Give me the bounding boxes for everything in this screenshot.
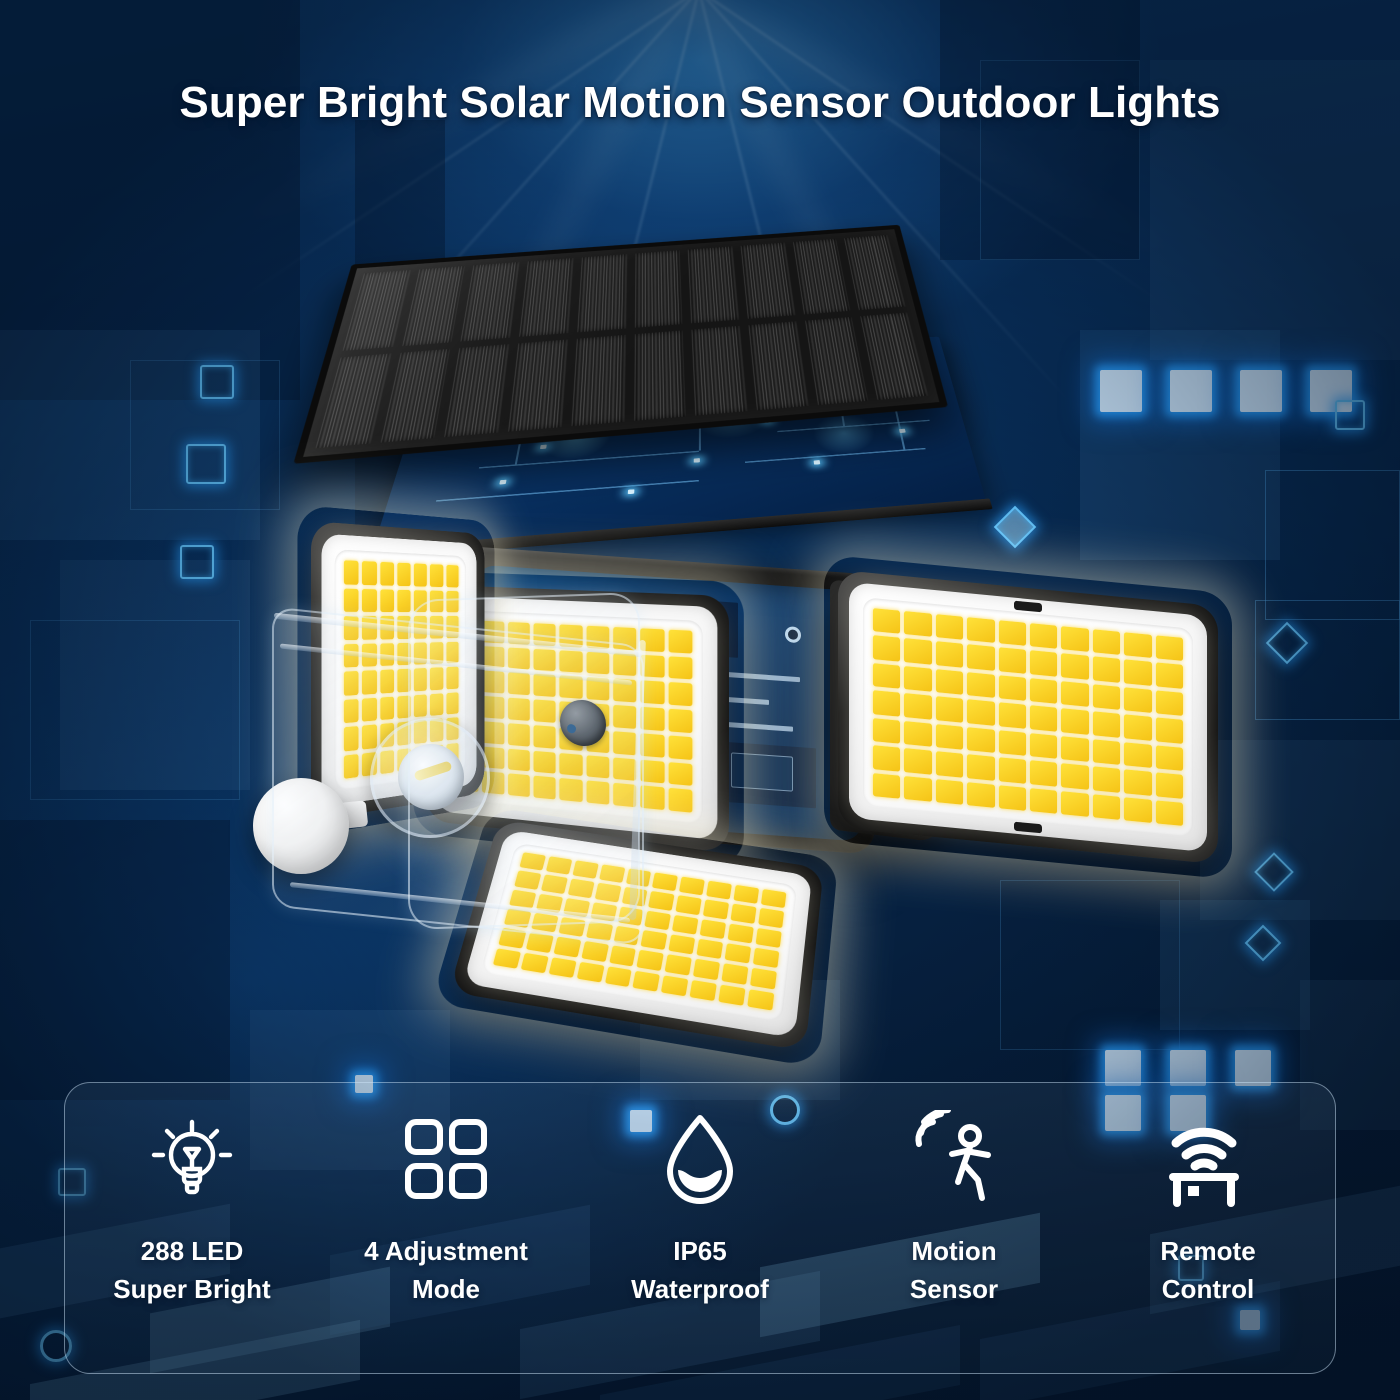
feature-label-line1: IP65 — [673, 1236, 727, 1266]
feature-label-line1: Remote — [1160, 1236, 1255, 1266]
feature-label-line2: Control — [1162, 1274, 1254, 1304]
led-chip — [967, 699, 994, 725]
feature-label-line1: 288 LED — [141, 1236, 244, 1266]
led-chip — [725, 943, 751, 964]
led-chip — [731, 904, 757, 924]
led-chip — [397, 589, 411, 612]
led-chip — [999, 730, 1026, 756]
product-image — [0, 0, 1400, 1080]
led-chip — [936, 614, 963, 640]
led-chip — [873, 773, 900, 799]
led-chip — [1156, 663, 1183, 689]
led-chip — [1093, 657, 1120, 683]
led-chip — [904, 693, 931, 719]
feature-item-waterproof[interactable]: IP65 Waterproof — [573, 1083, 827, 1373]
feature-item-adjustment[interactable]: 4 Adjustment Mode — [319, 1083, 573, 1373]
led-chip — [641, 759, 665, 783]
led-chip — [637, 950, 664, 971]
led-chip — [904, 721, 931, 747]
led-chip — [1124, 742, 1151, 768]
feature-label-line2: Mode — [412, 1274, 480, 1304]
led-chip — [734, 885, 760, 904]
led-chip — [380, 562, 394, 585]
led-chip — [1061, 681, 1088, 707]
led-chip — [553, 937, 580, 957]
led-chip — [873, 718, 900, 744]
led-chip — [873, 745, 900, 771]
led-chip — [652, 872, 678, 891]
led-chip — [967, 617, 994, 643]
led-chip — [576, 961, 604, 982]
led-chip — [645, 910, 672, 930]
led-chip — [1030, 705, 1057, 731]
led-chip — [761, 889, 786, 908]
led-chip — [758, 908, 784, 928]
led-chip — [1061, 654, 1088, 680]
four-grid-icon — [396, 1101, 496, 1219]
led-chip — [521, 953, 549, 974]
led-chip — [1061, 626, 1088, 652]
led-chip — [936, 642, 963, 668]
feature-item-led[interactable]: 288 LED Super Bright — [65, 1083, 319, 1373]
feature-label-line2: Waterproof — [631, 1274, 769, 1304]
led-chip — [668, 682, 692, 706]
led-chip — [633, 971, 660, 992]
led-chip — [706, 881, 732, 900]
led-chip — [641, 707, 665, 731]
led-chip — [1061, 736, 1088, 762]
led-chip — [1156, 800, 1183, 826]
led-chip — [693, 959, 720, 980]
led-chip — [999, 620, 1026, 646]
led-chip — [747, 989, 774, 1011]
led-chip — [661, 975, 688, 996]
led-chip — [904, 776, 931, 802]
led-chip — [668, 709, 692, 733]
feature-item-remote[interactable]: Remote Control — [1081, 1083, 1335, 1373]
led-chip — [1061, 708, 1088, 734]
led-chip — [1156, 635, 1183, 661]
led-chip — [999, 675, 1026, 701]
led-chip — [1124, 797, 1151, 823]
led-chip — [641, 930, 668, 950]
led-chip — [904, 639, 931, 665]
led-chip — [609, 946, 636, 967]
led-chip — [1124, 687, 1151, 713]
led-chip — [697, 939, 724, 959]
led-chip — [690, 980, 717, 1001]
led-chip — [1124, 769, 1151, 795]
led-chip — [344, 560, 359, 584]
remote-control-icon — [1158, 1101, 1258, 1219]
led-chip — [756, 928, 782, 948]
led-chip — [665, 955, 692, 976]
led-chip — [904, 748, 931, 774]
led-chip — [668, 630, 692, 654]
led-chip — [873, 663, 900, 689]
led-chip — [1030, 678, 1057, 704]
led-chip — [605, 966, 633, 987]
led-chip — [1156, 718, 1183, 744]
led-chip — [1156, 690, 1183, 716]
led-chip — [362, 589, 376, 612]
led-chip — [1030, 760, 1057, 786]
led-chip — [446, 565, 458, 587]
led-chip — [414, 563, 427, 586]
led-panel-right — [838, 570, 1218, 865]
led-chip — [999, 757, 1026, 783]
led-chip — [1156, 745, 1183, 771]
feature-label-line1: Motion — [911, 1236, 996, 1266]
led-chip — [1093, 794, 1120, 820]
led-chip — [668, 788, 692, 813]
led-chip — [967, 672, 994, 698]
led-chip — [967, 727, 994, 753]
led-chip — [397, 563, 411, 586]
led-chip — [1124, 632, 1151, 658]
led-chip — [1093, 766, 1120, 792]
led-chip — [936, 696, 963, 722]
led-chip — [669, 934, 696, 954]
led-chip — [668, 762, 692, 786]
led-chip — [1093, 739, 1120, 765]
led-chip — [668, 735, 692, 759]
led-chip — [1030, 623, 1057, 649]
led-chip — [1061, 763, 1088, 789]
led-chip — [936, 751, 963, 777]
led-chip — [750, 968, 777, 989]
led-chip — [1156, 772, 1183, 798]
led-chip — [999, 785, 1026, 811]
led-chip — [1030, 733, 1057, 759]
led-chip — [649, 891, 675, 910]
led-chip — [1093, 629, 1120, 655]
led-chip — [999, 702, 1026, 728]
led-chip — [430, 564, 443, 586]
feature-panel: 288 LED Super Bright 4 Adjustment Mode — [64, 1082, 1336, 1374]
led-chip — [679, 877, 705, 896]
led-chip — [344, 588, 359, 612]
feature-label-line1: 4 Adjustment — [364, 1236, 528, 1266]
led-chip — [1030, 651, 1057, 677]
led-chip — [581, 941, 608, 961]
led-chip — [936, 724, 963, 750]
led-chip — [967, 754, 994, 780]
led-chip — [1061, 791, 1088, 817]
water-drop-icon — [650, 1101, 750, 1219]
led-chip — [703, 900, 729, 920]
led-chip — [380, 589, 394, 612]
led-chip — [1124, 660, 1151, 686]
motion-sensor-icon — [902, 1101, 1006, 1219]
light-bulb-icon — [140, 1101, 244, 1219]
led-chip — [967, 782, 994, 808]
product-marketing-image: Super Bright Solar Motion Sensor Outdoor… — [0, 0, 1400, 1400]
led-chip — [362, 561, 376, 585]
led-chip — [641, 733, 665, 757]
led-chip — [873, 635, 900, 661]
feature-item-motion[interactable]: Motion Sensor — [827, 1083, 1081, 1373]
led-chip — [676, 895, 702, 914]
feature-label-line2: Sensor — [910, 1274, 998, 1304]
led-chip — [999, 648, 1026, 674]
led-chip — [1030, 788, 1057, 814]
led-chip — [493, 948, 521, 969]
led-chip — [967, 645, 994, 671]
led-chip — [700, 919, 726, 939]
led-chip — [904, 611, 931, 637]
led-chip — [753, 948, 779, 969]
led-chip — [936, 779, 963, 805]
feature-label-line2: Super Bright — [113, 1274, 270, 1304]
led-chip — [873, 608, 900, 634]
led-chip — [668, 656, 692, 680]
led-chip — [548, 957, 576, 978]
led-chip — [873, 690, 900, 716]
led-chip — [936, 669, 963, 695]
led-chip — [672, 915, 698, 935]
led-chip — [722, 964, 749, 985]
led-chip — [1093, 712, 1120, 738]
led-chip — [719, 984, 746, 1005]
led-chip — [1124, 715, 1151, 741]
led-chip — [641, 786, 665, 810]
led-chip — [1093, 684, 1120, 710]
led-chip — [904, 666, 931, 692]
led-chip — [728, 923, 754, 943]
